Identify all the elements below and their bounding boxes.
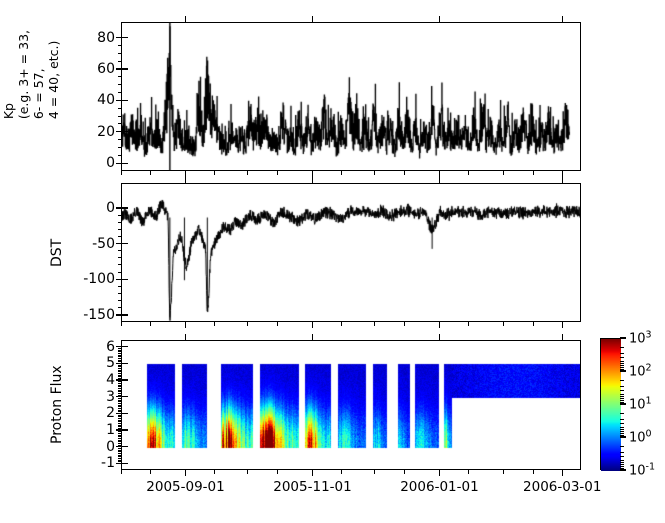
colorbar-minor-tick [620, 431, 624, 432]
x-tick-mark-bottom [312, 322, 313, 328]
y-minor-tick [118, 441, 122, 442]
x-minor-tick [533, 322, 534, 326]
y-tick-mark-inner [122, 314, 128, 315]
y-minor-tick [118, 411, 122, 412]
y-tick-label: 5 [79, 355, 115, 371]
x-tick-mark-top [312, 16, 313, 22]
y-minor-tick [118, 123, 122, 124]
y-minor-tick [118, 348, 122, 349]
colorbar-tick [620, 370, 626, 371]
y-minor-tick [118, 421, 122, 422]
y-tick-label: 2 [79, 405, 115, 421]
y-minor-tick [118, 155, 122, 156]
y-tick-label: 6 [79, 339, 115, 355]
y-minor-tick [118, 264, 122, 265]
y-minor-tick [118, 286, 122, 287]
y-minor-tick [118, 373, 122, 374]
x-tick-mark-top [562, 177, 563, 183]
y-tick-mark-inner [122, 446, 128, 447]
colorbar-minor-tick [620, 452, 624, 453]
y-minor-tick [118, 61, 122, 62]
y-minor-tick [118, 108, 122, 109]
x-minor-tick [503, 322, 504, 326]
x-tick-mark-top [562, 334, 563, 340]
y-minor-tick [118, 250, 122, 251]
kp-axis-label-line1: Kp [1, 30, 16, 119]
y-tick-label: 80 [79, 30, 115, 46]
colorbar-tick-label: 103 [629, 329, 652, 346]
colorbar-minor-tick [620, 386, 624, 387]
y-minor-tick [118, 272, 122, 273]
y-minor-tick [118, 401, 122, 402]
x-minor-tick [533, 171, 534, 175]
x-tick-label: 2005-09-01 [146, 479, 224, 495]
y-minor-tick [118, 420, 122, 421]
y-tick-label: 0 [79, 155, 115, 171]
colorbar-minor-tick [620, 396, 624, 397]
y-minor-tick [118, 423, 122, 424]
colorbar-minor-tick [620, 380, 624, 381]
kp-axis-label-line4: 4 = 40, etc.) [46, 30, 61, 119]
y-minor-tick [118, 400, 122, 401]
y-minor-tick [118, 451, 122, 452]
kp-axis-label-line2: (e.g. 3+ = 33, [16, 30, 31, 119]
y-minor-tick [118, 395, 122, 396]
y-minor-tick [118, 92, 122, 93]
y-tick-label: 3 [79, 389, 115, 405]
y-minor-tick [118, 418, 122, 419]
x-tick-label: 2006-01-01 [400, 479, 478, 495]
x-tick-mark-bottom [562, 470, 563, 476]
x-minor-tick [341, 470, 342, 474]
y-minor-tick [118, 358, 122, 359]
y-minor-tick [118, 236, 122, 237]
y-tick-mark-inner [122, 100, 128, 101]
y-tick-label: 20 [79, 124, 115, 140]
x-minor-tick [214, 322, 215, 326]
colorbar-minor-tick [620, 429, 624, 430]
x-minor-tick [374, 171, 375, 175]
x-tick-mark-top [439, 177, 440, 183]
y-minor-tick [118, 440, 122, 441]
y-minor-tick [118, 366, 122, 367]
colorbar-minor-tick [620, 361, 624, 362]
colorbar-minor-tick [620, 394, 624, 395]
y-minor-tick [118, 147, 122, 148]
kp-axis-label: Kp (e.g. 3+ = 33, 6- = 57, 4 = 40, etc.) [0, 0, 62, 149]
y-minor-tick [118, 257, 122, 258]
y-minor-tick [118, 383, 122, 384]
figure-root: Kp (e.g. 3+ = 33, 6- = 57, 4 = 40, etc.)… [0, 0, 665, 523]
x-minor-tick [341, 171, 342, 175]
y-tick-mark-inner [122, 346, 128, 347]
y-minor-tick [118, 393, 122, 394]
y-minor-tick [118, 436, 122, 437]
x-tick-mark-bottom [185, 322, 186, 328]
y-minor-tick [118, 403, 122, 404]
y-tick-mark-inner [122, 131, 128, 132]
y-minor-tick [118, 307, 122, 308]
y-minor-tick [118, 450, 122, 451]
y-tick-mark-inner [122, 463, 128, 464]
y-minor-tick [118, 293, 122, 294]
colorbar-minor-tick [620, 460, 624, 461]
colorbar-tick-label: 100 [629, 428, 652, 445]
x-minor-tick [277, 171, 278, 175]
y-tick-mark-inner [122, 379, 128, 380]
y-minor-tick [118, 428, 122, 429]
x-minor-tick [533, 470, 534, 474]
y-tick-label: -100 [79, 271, 115, 287]
y-tick-label: 4 [79, 372, 115, 388]
y-minor-tick [118, 433, 122, 434]
x-minor-tick [404, 322, 405, 326]
x-minor-tick [468, 322, 469, 326]
kp-plot-panel [121, 22, 581, 171]
flux-axis-label: Proton Flux [50, 340, 70, 470]
y-minor-tick [118, 300, 122, 301]
y-tick-label: 60 [79, 61, 115, 77]
y-tick-mark-inner [122, 429, 128, 430]
y-minor-tick [118, 458, 122, 459]
x-minor-tick [277, 322, 278, 326]
x-minor-tick [404, 470, 405, 474]
y-tick-mark-inner [122, 68, 128, 69]
colorbar-minor-tick [620, 419, 624, 420]
x-minor-tick [404, 171, 405, 175]
colorbar-minor-tick [620, 402, 624, 403]
y-minor-tick [118, 376, 122, 377]
colorbar-minor-tick [620, 363, 624, 364]
x-tick-label: 2006-03-01 [523, 479, 601, 495]
colorbar-minor-tick [620, 390, 624, 391]
y-minor-tick [118, 365, 122, 366]
y-minor-tick [118, 443, 122, 444]
x-minor-tick [150, 470, 151, 474]
colorbar-minor-tick [620, 464, 624, 465]
x-tick-mark-top [312, 334, 313, 340]
colorbar [600, 338, 620, 470]
y-tick-mark-inner [122, 37, 128, 38]
y-minor-tick [118, 116, 122, 117]
x-tick-mark-top [185, 334, 186, 340]
y-minor-tick [118, 215, 122, 216]
colorbar-minor-tick [620, 353, 624, 354]
x-minor-tick [121, 171, 122, 175]
colorbar-minor-tick [620, 462, 624, 463]
y-minor-tick [118, 388, 122, 389]
colorbar-minor-tick [620, 456, 624, 457]
y-minor-tick [118, 386, 122, 387]
y-minor-tick [118, 381, 122, 382]
y-minor-tick [118, 356, 122, 357]
x-tick-mark-top [439, 334, 440, 340]
y-minor-tick [118, 361, 122, 362]
colorbar-tick [620, 436, 626, 437]
colorbar-tick-label: 10-1 [629, 461, 655, 478]
x-tick-mark-top [185, 177, 186, 183]
y-minor-tick [118, 378, 122, 379]
y-tick-mark-inner [122, 279, 128, 280]
y-minor-tick [118, 408, 122, 409]
x-minor-tick [121, 470, 122, 474]
x-tick-mark-bottom [562, 322, 563, 328]
y-tick-label: -1 [79, 455, 115, 471]
y-minor-tick [118, 426, 122, 427]
y-tick-mark-inner [122, 413, 128, 414]
y-tick-label: 40 [79, 92, 115, 108]
y-minor-tick [118, 431, 122, 432]
y-minor-tick [118, 406, 122, 407]
colorbar-tick-label: 102 [629, 362, 652, 379]
y-minor-tick [118, 385, 122, 386]
y-tick-mark-inner [122, 396, 128, 397]
x-minor-tick [374, 470, 375, 474]
y-minor-tick [118, 76, 122, 77]
y-minor-tick [118, 360, 122, 361]
x-tick-mark-top [562, 16, 563, 22]
x-tick-mark-bottom [185, 470, 186, 476]
colorbar-minor-tick [620, 468, 624, 469]
colorbar-minor-tick [620, 365, 624, 366]
y-minor-tick [118, 375, 122, 376]
x-minor-tick [468, 470, 469, 474]
y-minor-tick [118, 222, 122, 223]
y-tick-mark-inner [122, 163, 128, 164]
y-tick-label: 0 [79, 200, 115, 216]
x-minor-tick [247, 470, 248, 474]
colorbar-minor-tick [620, 427, 624, 428]
x-minor-tick [214, 470, 215, 474]
x-tick-mark-top [312, 177, 313, 183]
y-minor-tick [118, 45, 122, 46]
y-tick-label: 1 [79, 422, 115, 438]
y-tick-mark-inner [122, 243, 128, 244]
x-minor-tick [214, 171, 215, 175]
y-minor-tick [118, 53, 122, 54]
y-tick-label: -150 [79, 307, 115, 323]
y-minor-tick [118, 351, 122, 352]
y-tick-label: -50 [79, 236, 115, 252]
colorbar-minor-tick [620, 347, 624, 348]
colorbar-minor-tick [620, 423, 624, 424]
colorbar-tick [620, 403, 626, 404]
y-tick-mark-inner [122, 363, 128, 364]
proton-flux-plot-panel [121, 340, 581, 470]
x-minor-tick [503, 470, 504, 474]
y-minor-tick [118, 448, 122, 449]
y-minor-tick [118, 350, 122, 351]
colorbar-minor-tick [620, 435, 624, 436]
y-minor-tick [118, 229, 122, 230]
y-minor-tick [118, 435, 122, 436]
x-minor-tick [468, 171, 469, 175]
y-minor-tick [118, 355, 122, 356]
kp-axis-label-line3: 6- = 57, [31, 30, 46, 119]
y-minor-tick [118, 445, 122, 446]
y-tick-mark-inner [122, 207, 128, 208]
y-minor-tick [118, 84, 122, 85]
y-minor-tick [118, 416, 122, 417]
x-minor-tick [503, 171, 504, 175]
dst-plot-panel [121, 183, 581, 322]
x-minor-tick [374, 322, 375, 326]
x-minor-tick [277, 470, 278, 474]
colorbar-minor-tick [620, 398, 624, 399]
colorbar-tick [620, 469, 626, 470]
colorbar-tick-label: 101 [629, 395, 652, 412]
x-tick-mark-top [185, 16, 186, 22]
y-minor-tick [118, 391, 122, 392]
y-minor-tick [118, 410, 122, 411]
dst-axis-label: DST [50, 183, 70, 322]
colorbar-tick [620, 337, 626, 338]
x-minor-tick [247, 322, 248, 326]
y-tick-label: 0 [79, 439, 115, 455]
y-minor-tick [118, 371, 122, 372]
x-tick-mark-top [439, 16, 440, 22]
y-minor-tick [118, 368, 122, 369]
y-minor-tick [118, 415, 122, 416]
x-minor-tick [121, 322, 122, 326]
x-minor-tick [341, 322, 342, 326]
y-minor-tick [118, 453, 122, 454]
y-minor-tick [118, 370, 122, 371]
y-minor-tick [118, 405, 122, 406]
colorbar-minor-tick [620, 357, 624, 358]
x-minor-tick [247, 171, 248, 175]
x-tick-mark-bottom [312, 470, 313, 476]
x-minor-tick [150, 322, 151, 326]
y-minor-tick [118, 390, 122, 391]
y-minor-tick [118, 456, 122, 457]
x-minor-tick [150, 171, 151, 175]
y-minor-tick [118, 461, 122, 462]
x-tick-label: 2005-11-01 [273, 479, 351, 495]
y-minor-tick [118, 460, 122, 461]
y-minor-tick [118, 438, 122, 439]
colorbar-minor-tick [620, 369, 624, 370]
y-minor-tick [118, 425, 122, 426]
y-minor-tick [118, 455, 122, 456]
colorbar-minor-tick [620, 413, 624, 414]
x-tick-mark-bottom [439, 322, 440, 328]
x-tick-mark-bottom [439, 470, 440, 476]
colorbar-minor-tick [620, 446, 624, 447]
y-minor-tick [118, 353, 122, 354]
y-minor-tick [118, 139, 122, 140]
y-minor-tick [118, 398, 122, 399]
